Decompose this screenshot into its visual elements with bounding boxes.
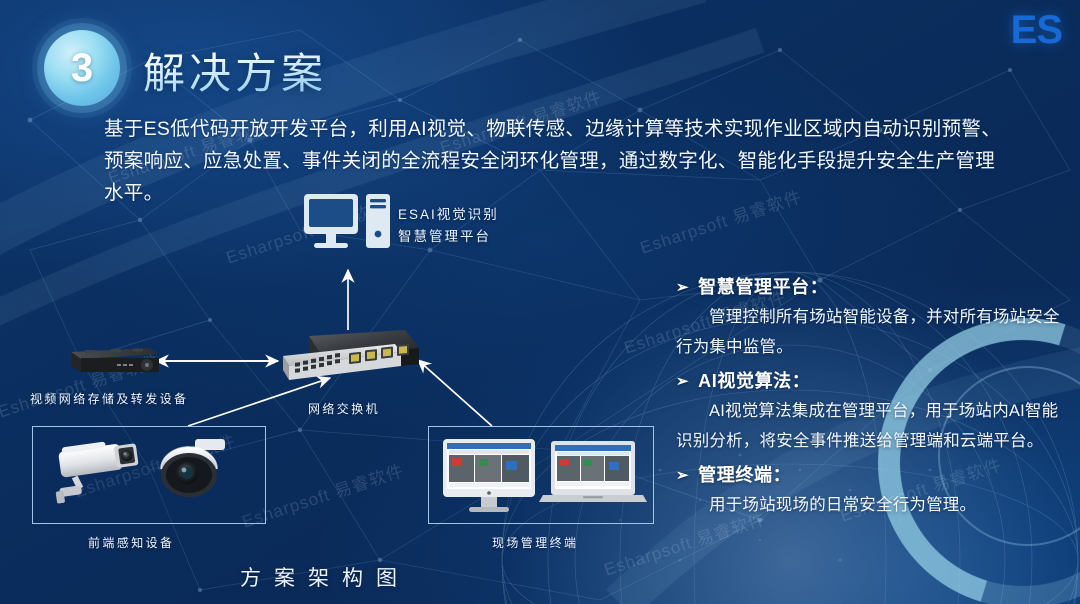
network-switch-icon (283, 330, 419, 394)
key-point-heading: ➢ 管理终端： (676, 460, 1068, 490)
section-number: 3 (71, 48, 93, 88)
desktop-computer-icon (304, 194, 390, 260)
nvr-storage-icon (63, 346, 159, 380)
switch-label: 网络交换机 (308, 400, 380, 417)
key-point-item: ➢ 智慧管理平台： 管理控制所有场站智能设备，并对所有场站安全行为集中监管。 (676, 272, 1068, 362)
front-end-sensor-label: 前端感知设备 (88, 534, 174, 551)
site-management-terminal-label: 现场管理终端 (492, 534, 578, 551)
arrow-bullet-icon: ➢ (676, 374, 689, 389)
site-management-terminal-box (428, 426, 654, 524)
architecture-diagram: ESAI视觉识别 智慧管理平台 (0, 186, 660, 604)
terminal-devices-icon (429, 427, 655, 525)
key-points-list: ➢ 智慧管理平台： 管理控制所有场站智能设备，并对所有场站安全行为集中监管。 ➢… (676, 272, 1068, 524)
section-number-badge: 3 (44, 30, 120, 106)
platform-caption-line1: ESAI视觉识别 (398, 204, 499, 226)
nvr-label: 视频网络存储及转发设备 (30, 390, 188, 407)
platform-caption: ESAI视觉识别 智慧管理平台 (398, 204, 499, 248)
page-title: 解决方案 (143, 40, 327, 101)
front-end-sensor-box (32, 426, 266, 524)
slide-canvas: Esharpsoft 易睿软件 Esharpsoft 易睿软件 Esharpso… (0, 0, 1080, 604)
camera-group-icon (33, 427, 267, 525)
key-point-title: 智慧管理平台： (698, 272, 828, 302)
key-point-item: ➢ AI视觉算法： AI视觉算法集成在管理平台，用于场站内AI智能识别分析，将安… (676, 366, 1068, 456)
key-point-heading: ➢ AI视觉算法： (676, 366, 1068, 396)
es-logo: ES (1011, 10, 1062, 50)
key-point-item: ➢ 管理终端： 用于场站现场的日常安全行为管理。 (676, 460, 1068, 520)
key-point-title: AI视觉算法： (698, 366, 810, 396)
key-point-body: 管理控制所有场站智能设备，并对所有场站安全行为集中监管。 (676, 302, 1068, 362)
key-point-title: 管理终端： (698, 460, 791, 490)
arrow-bullet-icon: ➢ (676, 468, 689, 483)
platform-caption-line2: 智慧管理平台 (398, 226, 499, 248)
arrow-bullet-icon: ➢ (676, 280, 689, 295)
diagram-caption: 方案架构图 (240, 562, 410, 592)
key-point-body: AI视觉算法集成在管理平台，用于场站内AI智能识别分析，将安全事件推送给管理端和… (676, 396, 1068, 456)
key-point-heading: ➢ 智慧管理平台： (676, 272, 1068, 302)
key-point-body: 用于场站现场的日常安全行为管理。 (676, 490, 1068, 520)
